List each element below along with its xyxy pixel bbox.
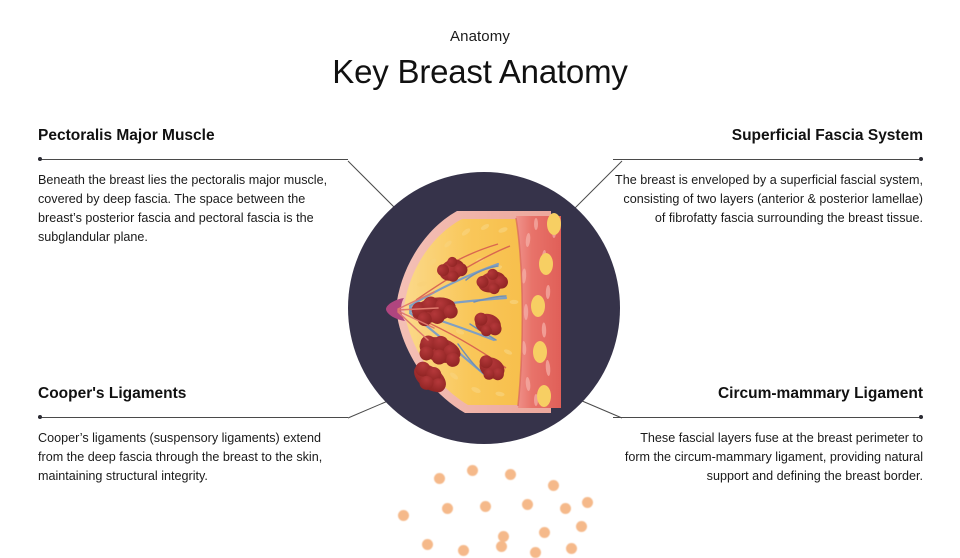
decorative-dot-cluster: [370, 455, 590, 540]
callout-body: These fascial layers fuse at the breast …: [613, 429, 923, 486]
decorative-dot: [480, 501, 491, 512]
decorative-dot: [576, 521, 587, 532]
callout-body: Beneath the breast lies the pectoralis m…: [38, 171, 348, 248]
decorative-dot: [458, 545, 469, 556]
decorative-dot: [398, 510, 409, 521]
callout-title: Cooper's Ligaments: [38, 385, 348, 404]
decorative-dot: [442, 503, 453, 514]
decorative-dot: [566, 543, 577, 554]
callout-divider: [38, 417, 348, 418]
callout-coopers-ligaments: Cooper's Ligaments Cooper’s ligaments (s…: [38, 385, 348, 486]
callout-body: Cooper’s ligaments (suspensory ligaments…: [38, 429, 348, 486]
callout-title: Pectoralis Major Muscle: [38, 127, 348, 146]
callout-title: Superficial Fascia System: [613, 127, 923, 146]
callout-circum-mammary-ligament: Circum-mammary Ligament These fascial la…: [613, 385, 923, 486]
callout-pectoralis-major-muscle: Pectoralis Major Muscle Beneath the brea…: [38, 127, 348, 247]
divider-dot-icon: [38, 157, 42, 161]
decorative-dot: [496, 541, 507, 552]
decorative-dot: [434, 473, 445, 484]
page-header: Anatomy Key Breast Anatomy: [0, 0, 960, 91]
divider-dot-icon: [38, 415, 42, 419]
divider-dot-icon: [919, 157, 923, 161]
callout-divider: [613, 417, 923, 418]
callout-superficial-fascia-system: Superficial Fascia System The breast is …: [613, 127, 923, 228]
page-title: Key Breast Anatomy: [0, 53, 960, 91]
decorative-dot: [539, 527, 550, 538]
decorative-dot: [422, 539, 433, 550]
callout-divider: [613, 159, 923, 160]
decorative-dot: [522, 499, 533, 510]
breast-anatomy-illustration: [348, 172, 620, 444]
callout-title: Circum-mammary Ligament: [613, 385, 923, 404]
decorative-dot: [548, 480, 559, 491]
divider-dot-icon: [919, 415, 923, 419]
decorative-dot: [467, 465, 478, 476]
decorative-dot: [505, 469, 516, 480]
callout-body: The breast is enveloped by a superficial…: [613, 171, 923, 228]
decorative-dot: [560, 503, 571, 514]
decorative-dot: [530, 547, 541, 558]
callout-divider: [38, 159, 348, 160]
eyebrow-label: Anatomy: [0, 28, 960, 45]
decorative-dot: [582, 497, 593, 508]
